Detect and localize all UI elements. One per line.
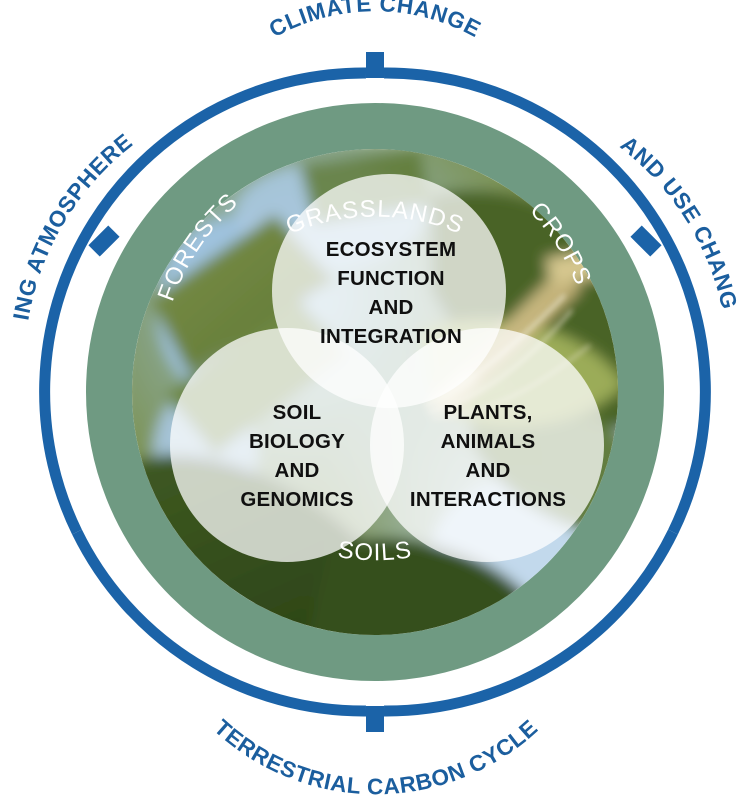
venn-line: AND — [368, 296, 413, 319]
tick-mark-top — [366, 52, 384, 78]
venn-line: FUNCTION — [337, 267, 445, 290]
venn-line: BIOLOGY — [249, 430, 345, 453]
venn-line: ECOSYSTEM — [326, 238, 457, 261]
outer-label-climate-change: CLIMATE CHANGE — [265, 0, 485, 42]
venn-line: PLANTS, — [443, 401, 532, 424]
venn-line: AND — [465, 459, 510, 482]
concentric-ring-diagram: CLIMATE CHANGE LAND USE CHANGE TERRESTRI… — [0, 0, 750, 795]
venn-line: INTEGRATION — [320, 325, 462, 348]
venn-line: AND — [274, 459, 319, 482]
co2-subscript: 2 — [0, 0, 4, 9]
ring-label-soils: SOILS — [336, 536, 414, 566]
venn-line: INTERACTIONS — [410, 488, 566, 511]
venn-line: GENOMICS — [240, 488, 353, 511]
venn-line: ANIMALS — [441, 430, 536, 453]
diagram-root: CLIMATE CHANGE LAND USE CHANGE TERRESTRI… — [0, 0, 750, 795]
tick-mark-bottom — [366, 706, 384, 732]
venn-line: SOIL — [273, 401, 322, 424]
